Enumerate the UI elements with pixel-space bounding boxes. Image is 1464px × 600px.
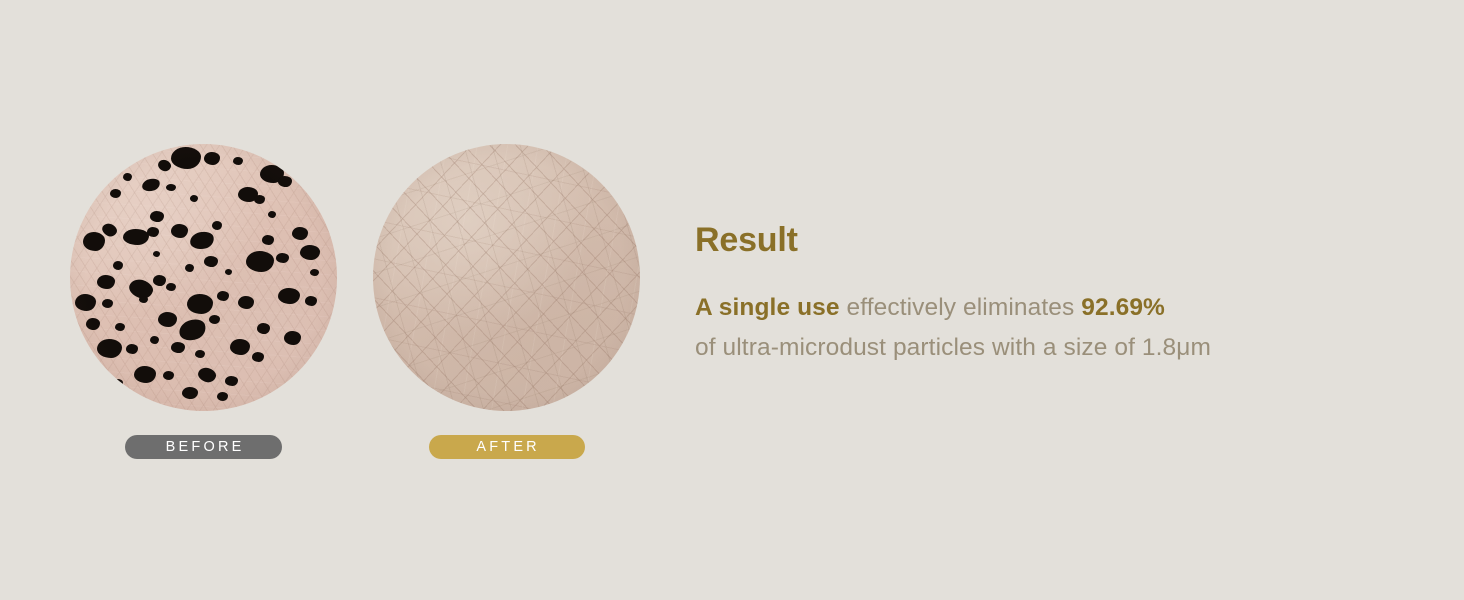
after-label-pill: AFTER	[429, 435, 585, 459]
before-sample: BEFORE	[70, 144, 337, 459]
result-emphasis-value: 92.69%	[1081, 294, 1165, 321]
before-label-pill: BEFORE	[125, 435, 282, 459]
after-skin-image	[373, 144, 640, 411]
comparison-result-banner: BEFORE AFTER Result A single use effecti…	[0, 0, 1464, 600]
result-line2: of ultra-microdust particles with a size…	[695, 334, 1211, 361]
result-line1-middle: effectively eliminates	[840, 294, 1082, 321]
disc-vignette	[373, 144, 640, 411]
result-emphasis-lead: A single use	[695, 294, 840, 321]
result-text-block: Result A single use effectively eliminat…	[695, 221, 1355, 367]
before-skin-image	[70, 144, 337, 411]
result-description: A single use effectively eliminates 92.6…	[695, 288, 1355, 367]
result-heading: Result	[695, 221, 1355, 260]
before-after-comparison: BEFORE AFTER	[70, 144, 640, 464]
disc-vignette	[70, 144, 337, 411]
after-sample: AFTER	[373, 144, 640, 459]
